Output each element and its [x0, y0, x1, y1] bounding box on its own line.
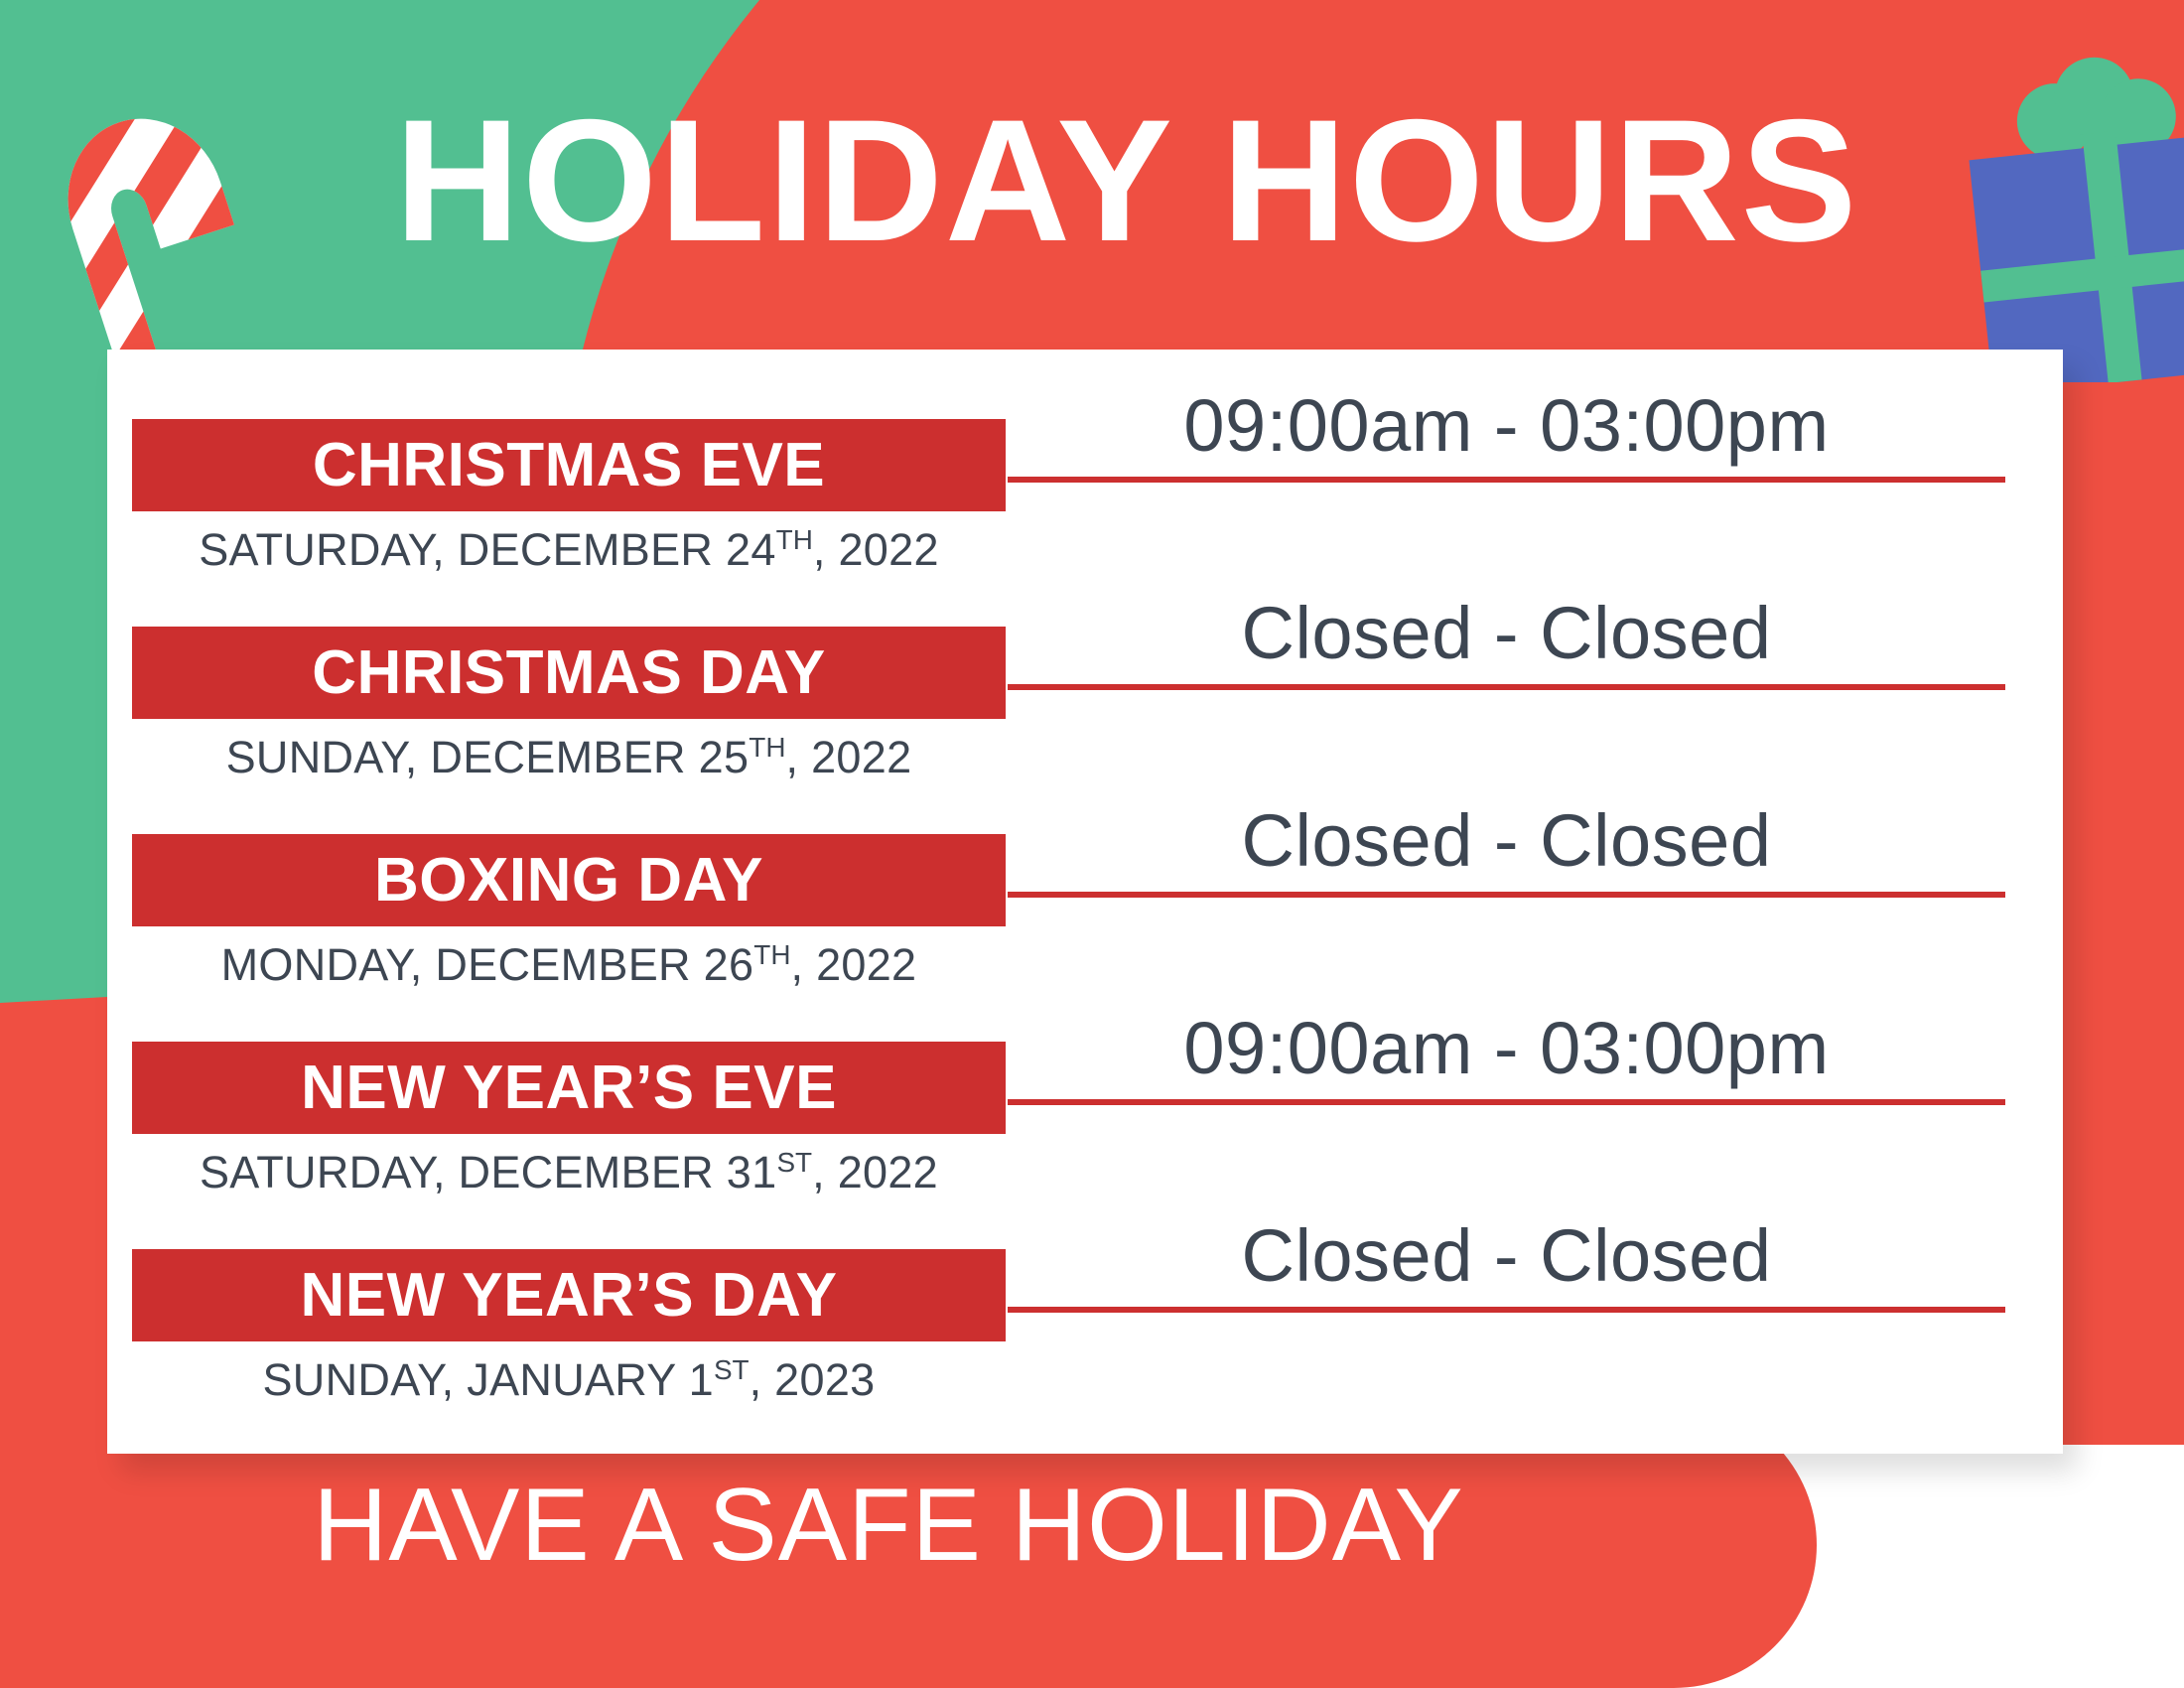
- hours-value: Closed - Closed: [1242, 799, 1772, 882]
- hours-cell: Closed - Closed: [1008, 595, 2005, 690]
- schedule-row: CHRISTMAS EVE SATURDAY, DECEMBER 24TH, 2…: [107, 350, 2063, 557]
- holiday-name: CHRISTMAS DAY: [312, 642, 826, 704]
- holiday-name: CHRISTMAS EVE: [313, 435, 825, 496]
- holiday-label-bar: CHRISTMAS DAY: [132, 627, 1006, 719]
- holiday-hours-poster: HOLIDAY HOURS CHRISTMAS EVE SATURDAY, DE…: [0, 0, 2184, 1688]
- date-ordinal-suffix: ST: [776, 1147, 812, 1178]
- schedule-row: CHRISTMAS DAY SUNDAY, DECEMBER 25TH, 202…: [107, 557, 2063, 765]
- schedule-list: CHRISTMAS EVE SATURDAY, DECEMBER 24TH, 2…: [107, 350, 2063, 1393]
- hours-card: CHRISTMAS EVE SATURDAY, DECEMBER 24TH, 2…: [107, 350, 2063, 1454]
- schedule-row: BOXING DAY MONDAY, DECEMBER 26TH, 2022 C…: [107, 765, 2063, 972]
- page-title: HOLIDAY HOURS: [0, 94, 2184, 268]
- hours-cell: Closed - Closed: [1008, 802, 2005, 898]
- schedule-row: NEW YEAR’S DAY SUNDAY, JANUARY 1ST, 2023…: [107, 1180, 2063, 1393]
- schedule-row: NEW YEAR’S EVE SATURDAY, DECEMBER 31ST, …: [107, 972, 2063, 1180]
- holiday-label-bar: BOXING DAY: [132, 834, 1006, 926]
- date-ordinal-suffix: TH: [776, 524, 813, 555]
- footer-message: HAVE A SAFE HOLIDAY: [0, 1474, 1777, 1577]
- holiday-name: BOXING DAY: [374, 850, 763, 912]
- holiday-label-bar: CHRISTMAS EVE: [132, 419, 1006, 511]
- hours-value: Closed - Closed: [1242, 1214, 1772, 1297]
- holiday-date: SUNDAY, JANUARY 1ST, 2023: [132, 1356, 1006, 1402]
- holiday-label-bar: NEW YEAR’S EVE: [132, 1042, 1006, 1134]
- hours-value: Closed - Closed: [1242, 592, 1772, 674]
- hours-value: 09:00am - 03:00pm: [1183, 1007, 1829, 1089]
- holiday-name: NEW YEAR’S DAY: [300, 1265, 837, 1327]
- date-ordinal-suffix: TH: [753, 939, 790, 970]
- date-ordinal-suffix: ST: [714, 1354, 750, 1385]
- holiday-label-bar: NEW YEAR’S DAY: [132, 1249, 1006, 1341]
- hours-value: 09:00am - 03:00pm: [1183, 384, 1829, 467]
- hours-cell: Closed - Closed: [1008, 1217, 2005, 1313]
- holiday-name: NEW YEAR’S EVE: [301, 1057, 837, 1119]
- date-main: SUNDAY, JANUARY 1: [262, 1354, 713, 1405]
- date-year: , 2023: [750, 1354, 876, 1405]
- hours-cell: 09:00am - 03:00pm: [1008, 387, 2005, 483]
- hours-cell: 09:00am - 03:00pm: [1008, 1010, 2005, 1105]
- date-ordinal-suffix: TH: [749, 732, 785, 763]
